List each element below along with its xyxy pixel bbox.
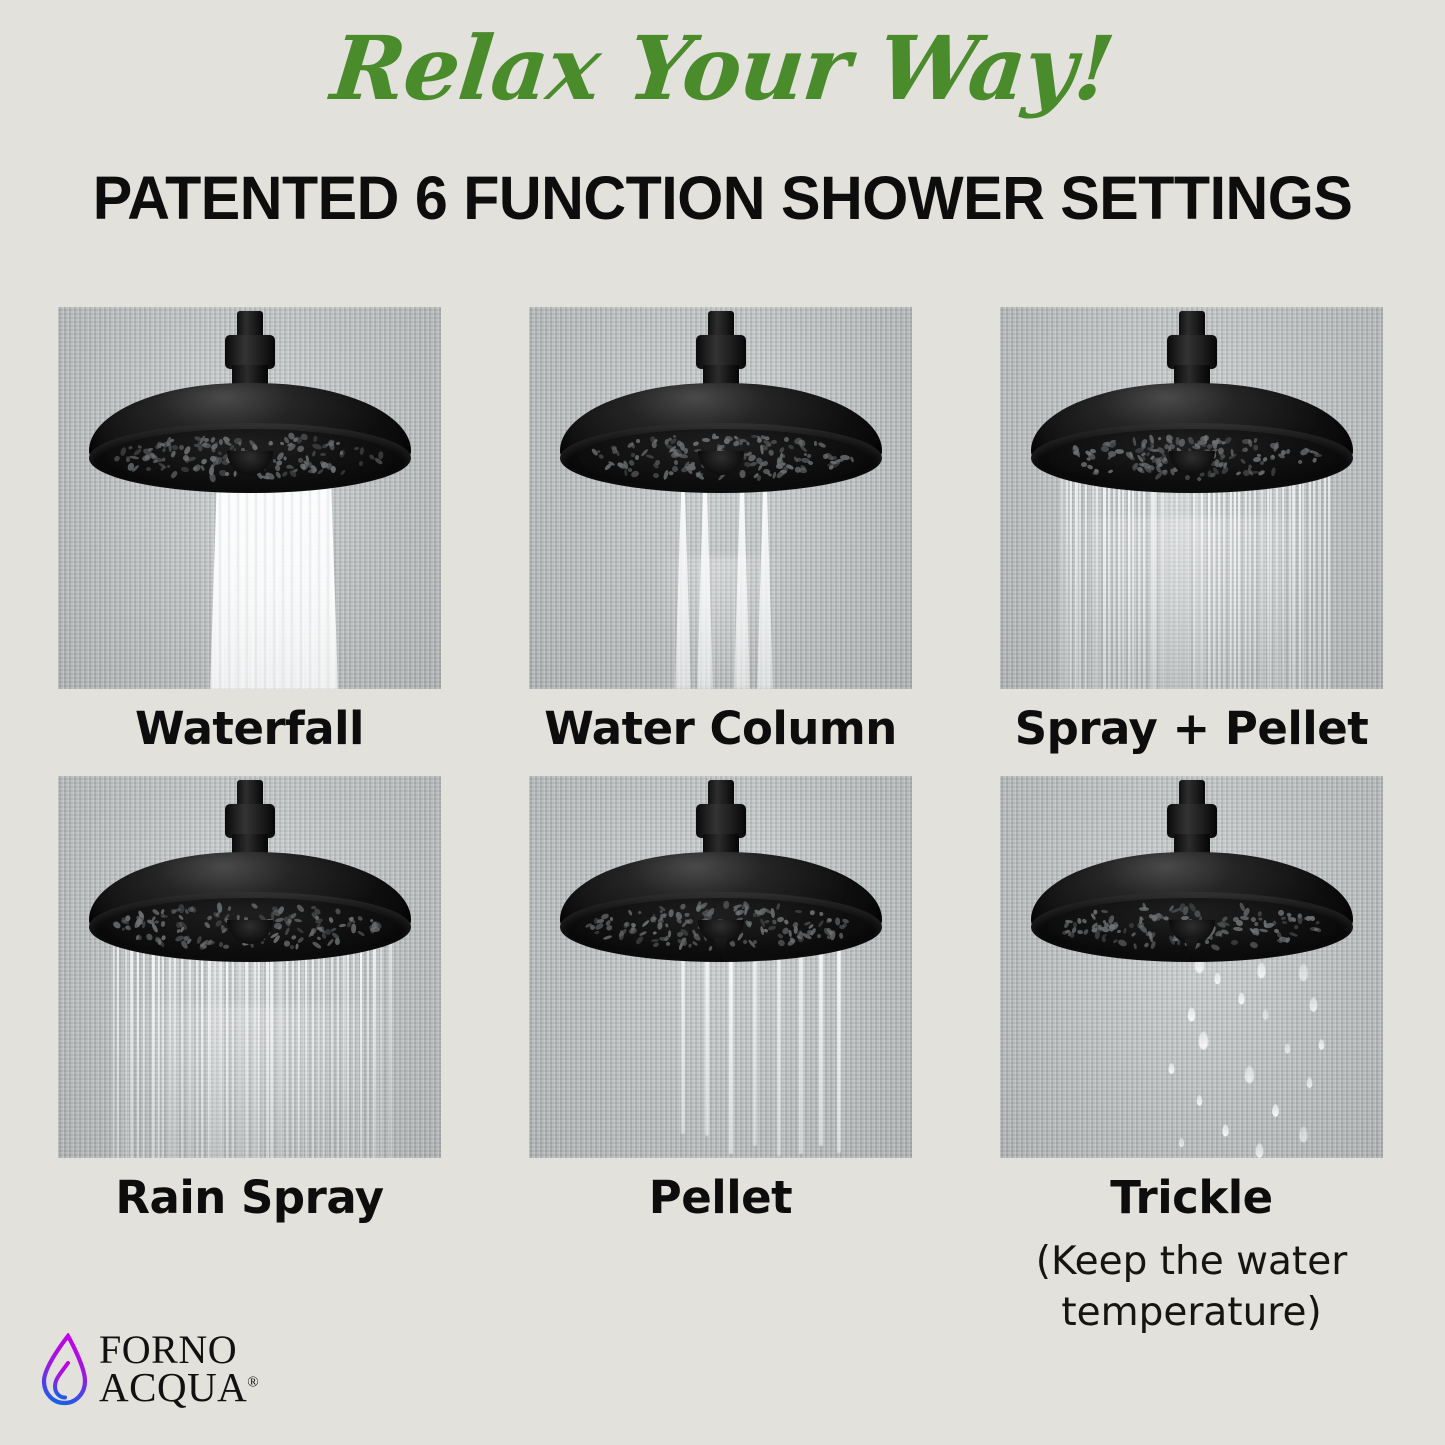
settings-row-2: Rain Spray Pelle (58, 776, 1388, 1338)
shower-collar (1167, 804, 1217, 838)
setting-label: Rain Spray (115, 1173, 383, 1223)
brand-line-2: ACQUA® (99, 1369, 259, 1407)
setting-label: Pellet (649, 1173, 792, 1223)
setting-image-water-column (529, 307, 912, 689)
setting-card-rain-spray[interactable]: Rain Spray (58, 776, 441, 1338)
setting-card-trickle[interactable]: Trickle (Keep the water temperature) (1000, 776, 1383, 1338)
brand-logo: FORNO ACQUA® (38, 1332, 259, 1407)
brand-line-2-text: ACQUA (99, 1364, 247, 1410)
setting-image-pellet (529, 776, 912, 1158)
setting-image-spray-pellet (1000, 307, 1383, 689)
shower-collar (225, 335, 275, 369)
shower-collar (1167, 335, 1217, 369)
shower-pipe (1179, 780, 1205, 806)
setting-label: Spray + Pellet (1015, 704, 1369, 754)
setting-image-rain-spray (58, 776, 441, 1158)
setting-card-pellet[interactable]: Pellet (529, 776, 912, 1338)
setting-label: Trickle (1110, 1173, 1272, 1223)
shower-pipe (237, 311, 263, 337)
settings-row-1: Waterfall Water Column (58, 307, 1388, 754)
setting-image-trickle (1000, 776, 1383, 1158)
setting-card-water-column[interactable]: Water Column (529, 307, 912, 754)
setting-label: Waterfall (135, 704, 364, 754)
registered-mark-icon: ® (247, 1375, 258, 1391)
showerhead-icon (556, 780, 886, 970)
setting-image-waterfall (58, 307, 441, 689)
setting-note: (Keep the water temperature) (1012, 1236, 1372, 1339)
shower-settings-grid: Waterfall Water Column (58, 307, 1388, 1339)
shower-pipe (1179, 311, 1205, 337)
showerhead-icon (556, 311, 886, 501)
showerhead-icon (1027, 780, 1357, 970)
page-title: PATENTED 6 FUNCTION SHOWER SETTINGS (22, 163, 1424, 233)
shower-pipe (237, 780, 263, 806)
brand-wordmark: FORNO ACQUA® (99, 1332, 259, 1407)
shower-collar (225, 804, 275, 838)
showerhead-icon (85, 780, 415, 970)
setting-card-waterfall[interactable]: Waterfall (58, 307, 441, 754)
setting-label: Water Column (544, 704, 897, 754)
showerhead-icon (1027, 311, 1357, 501)
script-headline: Relax Your Way! (0, 24, 1445, 112)
shower-collar (696, 335, 746, 369)
setting-card-spray-pellet[interactable]: Spray + Pellet (1000, 307, 1383, 754)
showerhead-icon (85, 311, 415, 501)
shower-pipe (708, 780, 734, 806)
shower-pipe (708, 311, 734, 337)
shower-collar (696, 804, 746, 838)
water-drop-icon (38, 1333, 90, 1407)
